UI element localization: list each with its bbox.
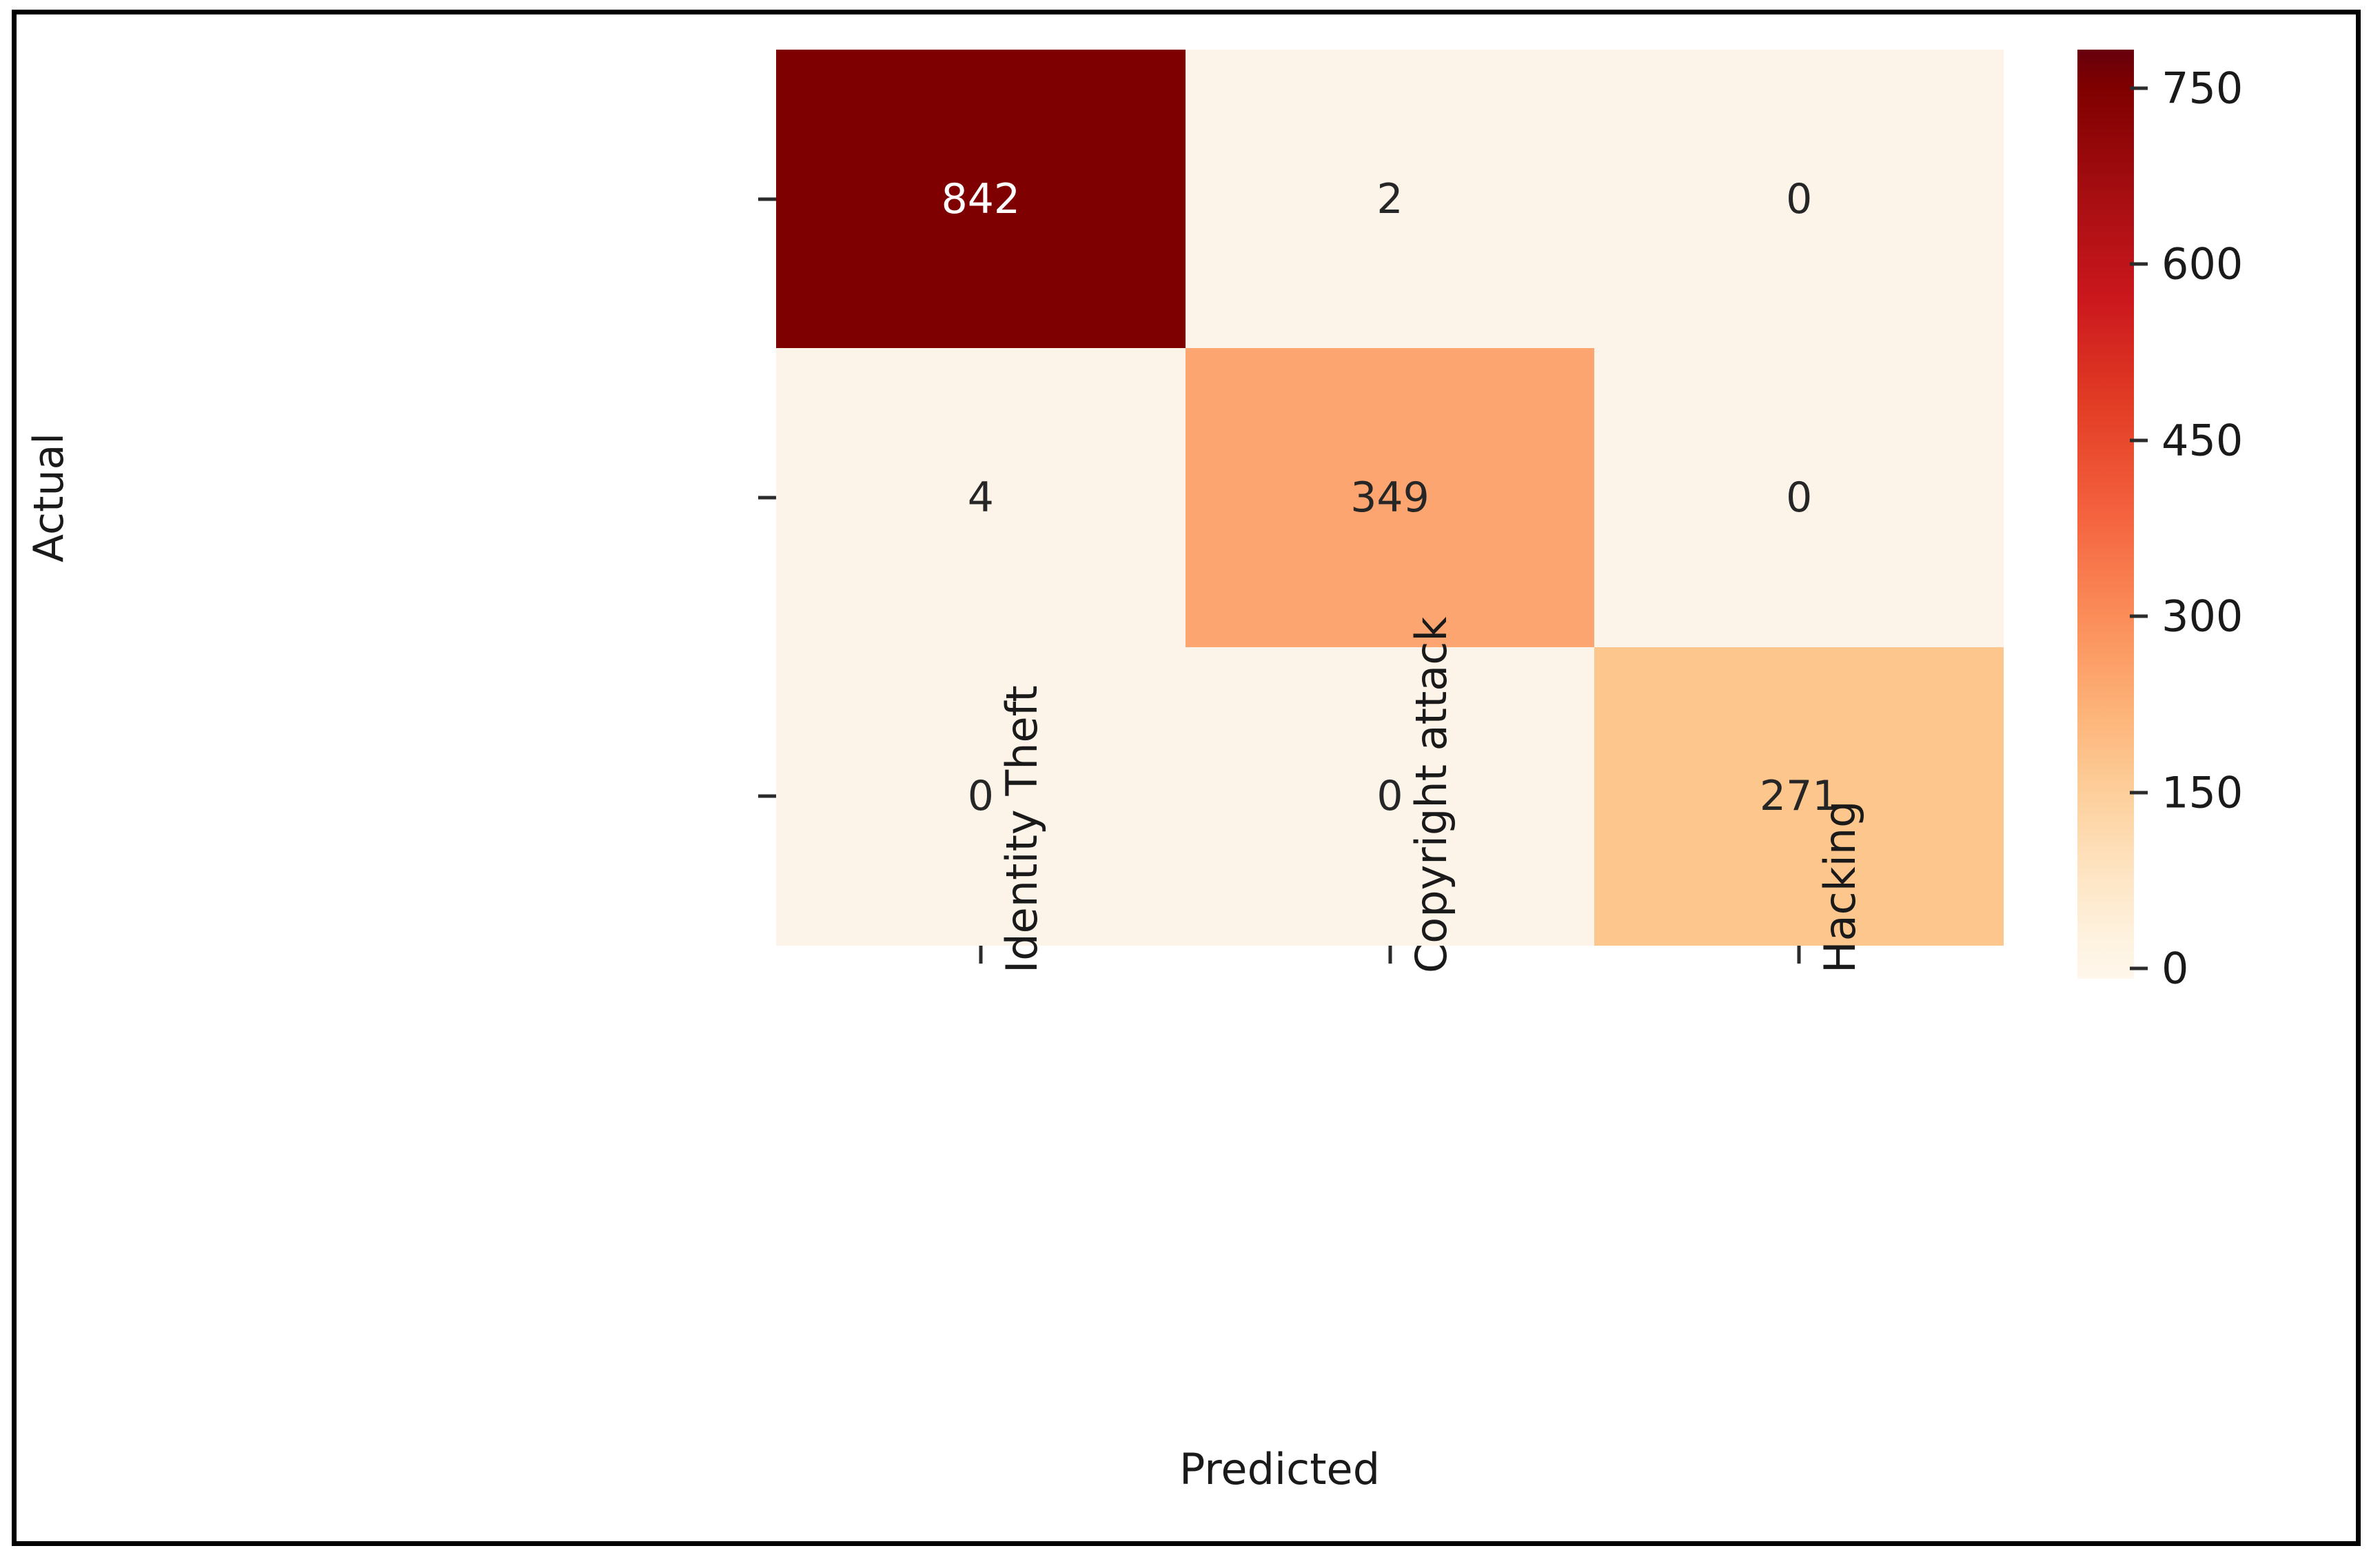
x-tick-mark-1	[1389, 946, 1392, 964]
x-tick-label-hacking: Hacking	[1815, 801, 1865, 973]
colorbar-tick-label-600: 600	[2162, 239, 2243, 289]
x-tick-label-identity-theft: Identity Theft	[997, 685, 1047, 973]
colorbar-tick-label-450: 450	[2162, 416, 2243, 466]
colorbar-tick-label-150: 150	[2162, 768, 2243, 818]
y-tick-mark-1	[758, 496, 776, 500]
heatmap-cell-0-0[interactable]: 842	[776, 50, 1186, 348]
x-tick-mark-2	[1798, 946, 1801, 964]
heatmap-cell-value: 0	[968, 775, 994, 817]
heatmap-cell-1-2[interactable]: 0	[1594, 348, 2004, 647]
x-axis-title: Predicted	[1179, 1444, 1380, 1494]
colorbar-tick-mark-5	[2130, 87, 2148, 90]
y-tick-mark-2	[758, 795, 776, 798]
colorbar[interactable]	[2077, 50, 2134, 979]
confusion-matrix-figure: Actual Identity Theft Copyright attack H…	[0, 0, 2380, 1566]
heatmap-cell-2-1[interactable]: 0	[1186, 647, 1595, 946]
y-axis-title: Actual	[25, 433, 73, 562]
heatmap-cell-value: 0	[1786, 477, 1812, 518]
colorbar-tick-mark-2	[2130, 615, 2148, 618]
heatmap-cell-0-2[interactable]: 0	[1594, 50, 2004, 348]
heatmap-cell-0-1[interactable]: 2	[1186, 50, 1595, 348]
heatmap-cell-1-1[interactable]: 349	[1186, 348, 1595, 647]
heatmap-cell-value: 349	[1350, 477, 1430, 518]
colorbar-tick-label-750: 750	[2162, 63, 2243, 114]
colorbar-tick-mark-4	[2130, 263, 2148, 266]
colorbar-tick-mark-0	[2130, 967, 2148, 970]
heatmap-cell-1-0[interactable]: 4	[776, 348, 1186, 647]
colorbar-tick-mark-1	[2130, 791, 2148, 795]
y-tick-mark-0	[758, 198, 776, 201]
heatmap-cell-value: 0	[1376, 775, 1403, 817]
heatmap-cell-2-2[interactable]: 271	[1594, 647, 2004, 946]
x-tick-label-copyright-attack: Copyright attack	[1406, 617, 1456, 973]
heatmap-cell-2-0[interactable]: 0	[776, 647, 1186, 946]
colorbar-tick-mark-3	[2130, 439, 2148, 443]
heatmap-cell-value: 2	[1376, 179, 1403, 220]
heatmap-cell-value: 4	[968, 477, 994, 518]
heatmap-cell-value: 0	[1786, 179, 1812, 220]
colorbar-tick-label-300: 300	[2162, 591, 2243, 642]
colorbar-gradient	[2077, 50, 2134, 979]
x-tick-mark-0	[979, 946, 983, 964]
heatmap-cell-value: 842	[942, 179, 1021, 220]
colorbar-tick-label-0: 0	[2162, 944, 2188, 994]
